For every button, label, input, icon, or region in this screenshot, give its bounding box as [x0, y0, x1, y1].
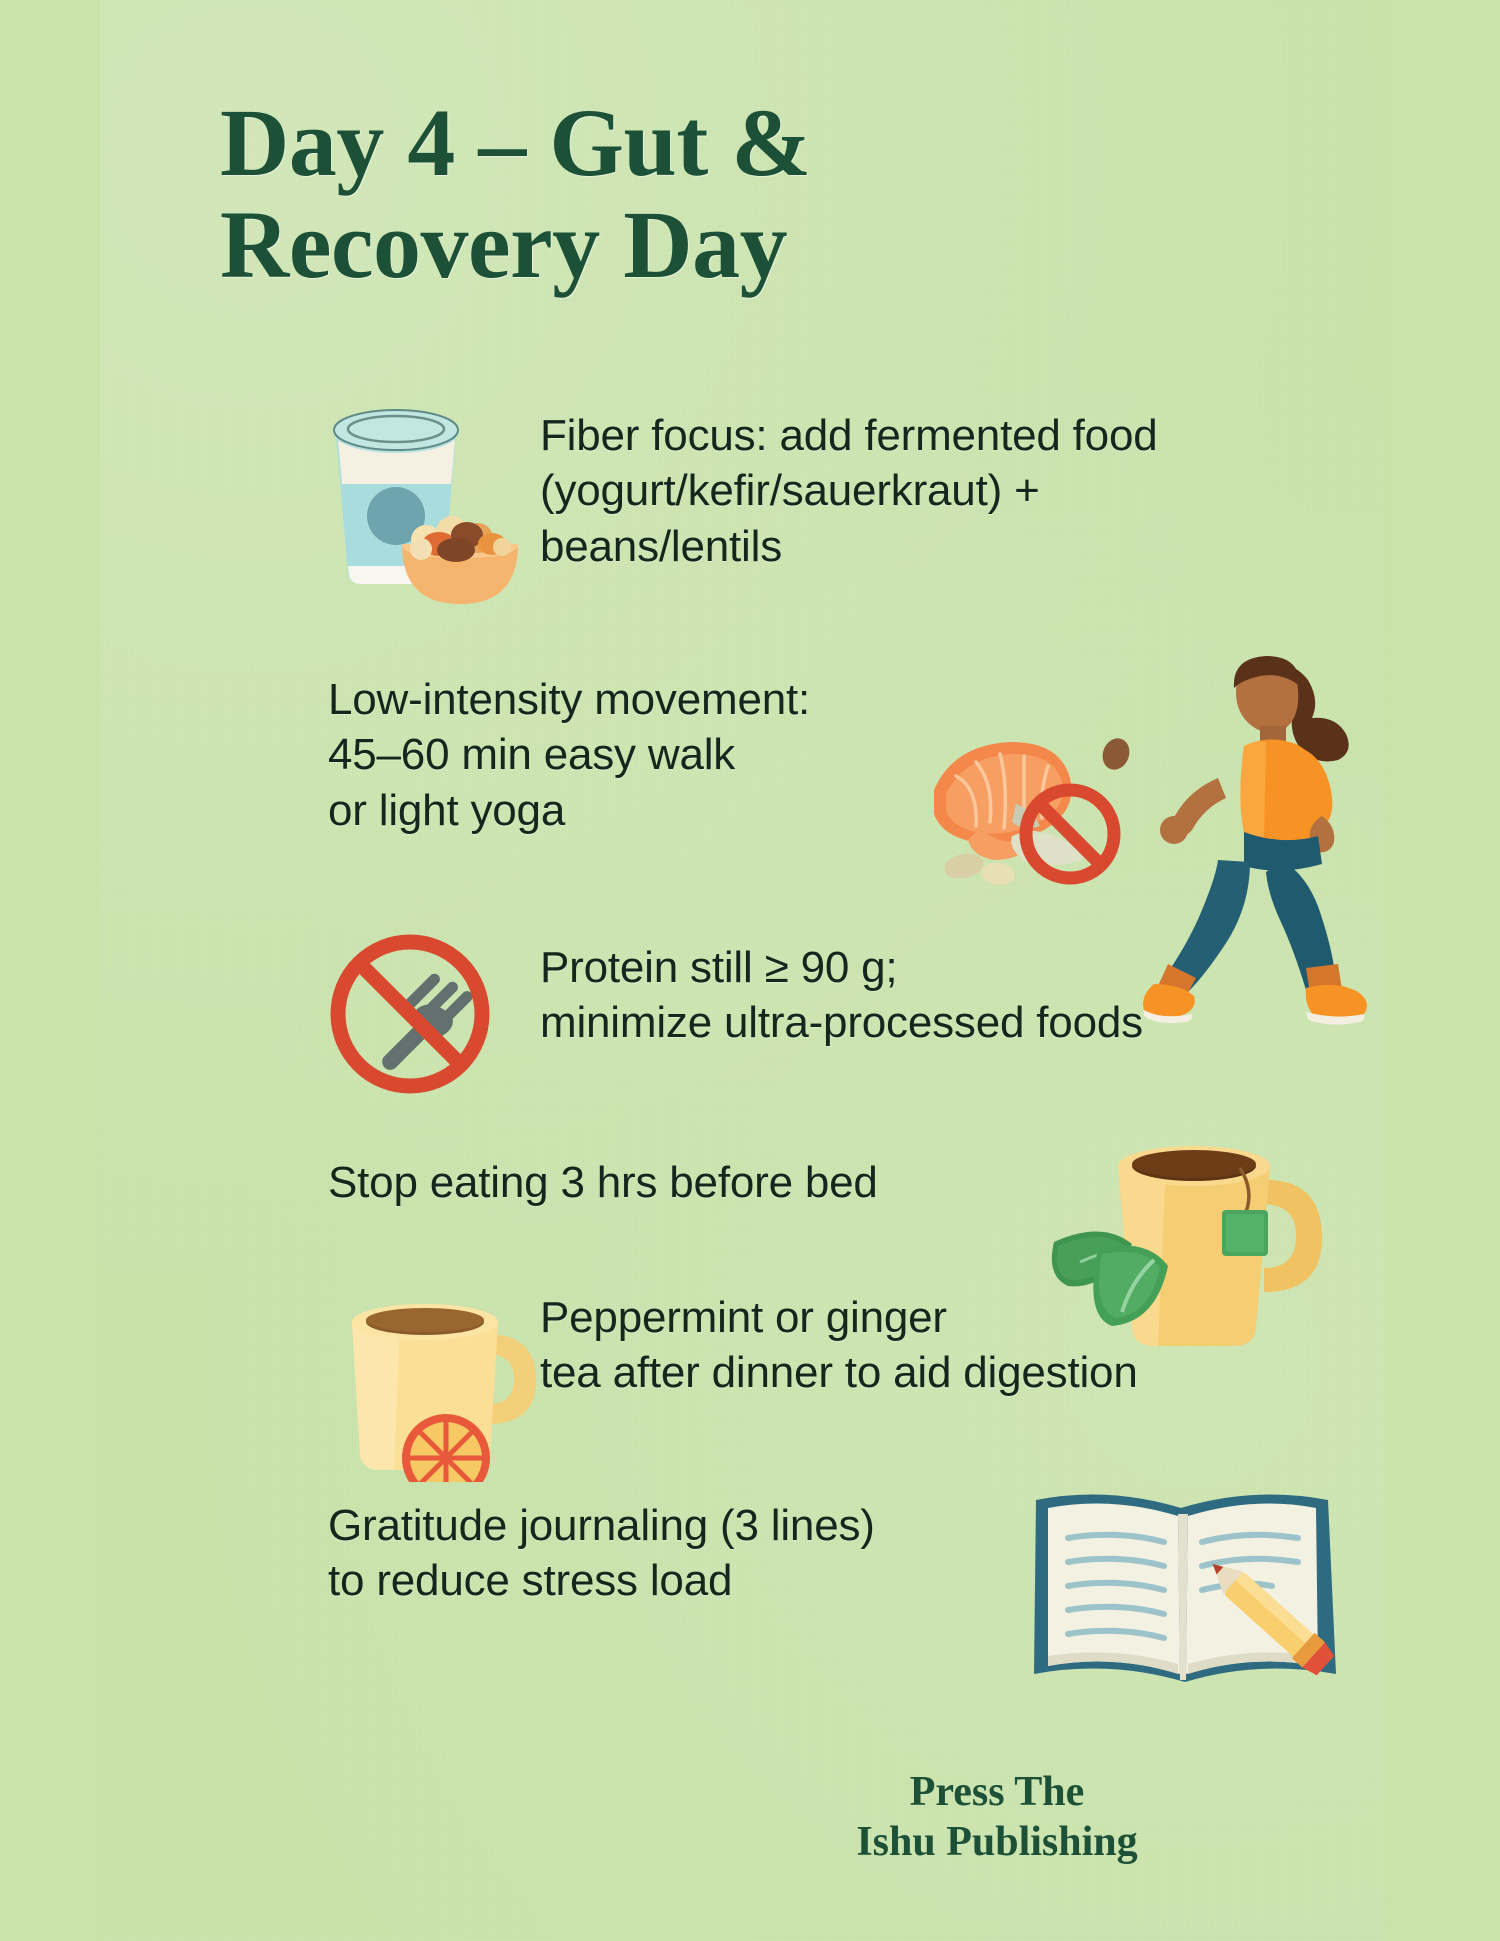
item-text-stop-eating-before-bed: Stop eating 3 hrs before bed [328, 1155, 1068, 1210]
publisher-credit: Press The Ishu Publishing [787, 1768, 1207, 1867]
item-text-low-intensity-movement: Low-intensity movement: 45–60 min easy w… [328, 672, 968, 838]
poster-canvas: Day 4 – Gut & Recovery Day [100, 0, 1385, 1941]
yogurt-and-beans-bowl-icon [306, 392, 526, 607]
open-journal-with-pencil-icon [1018, 1478, 1353, 1703]
item-text-fiber-focus: Fiber focus: add fermented food (yogurt/… [540, 408, 1330, 574]
no-fork-prohibition-icon [324, 928, 496, 1100]
item-text-digestive-tea: Peppermint or ginger tea after dinner to… [540, 1290, 1330, 1401]
page-title: Day 4 – Gut & Recovery Day [220, 92, 1040, 296]
item-text-gratitude-journaling: Gratitude journaling (3 lines) to reduce… [328, 1498, 1028, 1609]
lemon-tea-mug-icon [338, 1282, 553, 1482]
item-text-protein-target: Protein still ≥ 90 g; minimize ultra-pro… [540, 940, 1330, 1051]
infographic-poster: Day 4 – Gut & Recovery Day [0, 0, 1500, 1941]
